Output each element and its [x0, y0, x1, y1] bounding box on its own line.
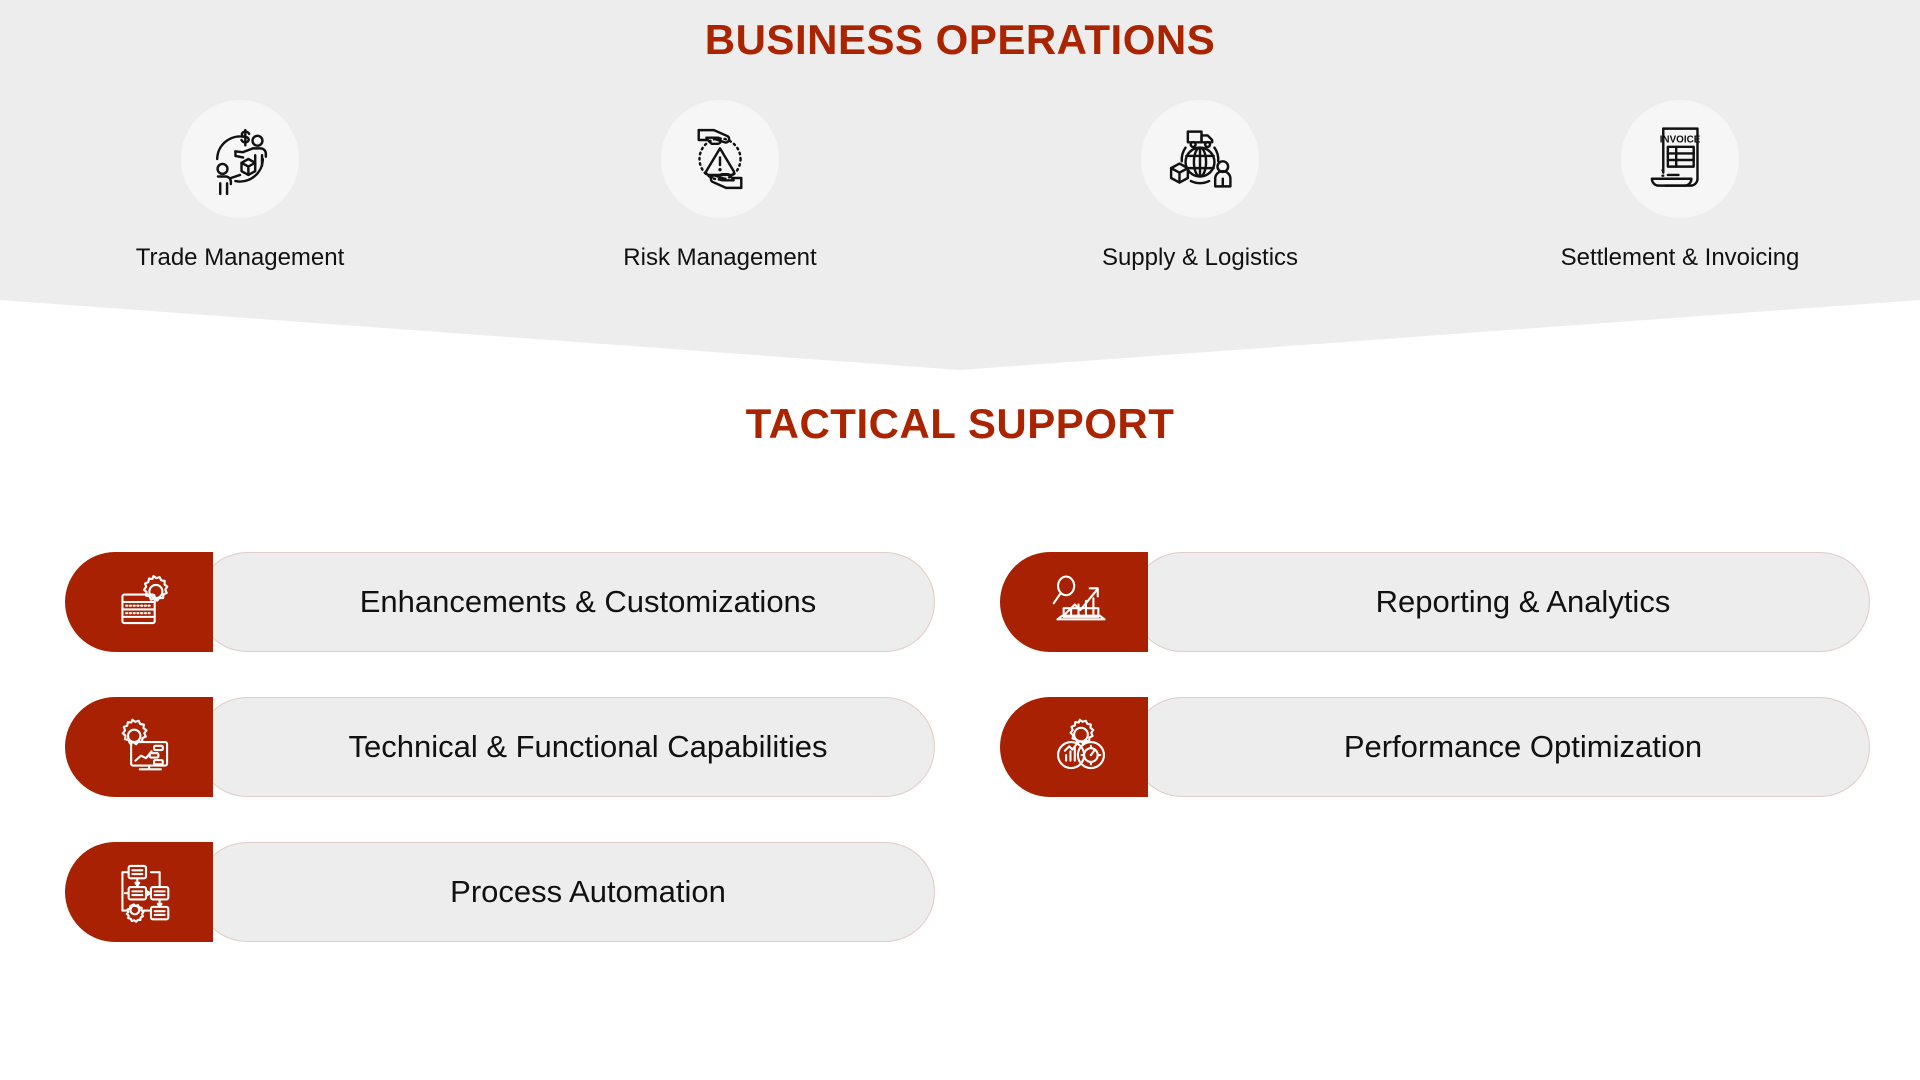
pill-body: Enhancements & Customizations — [197, 552, 935, 652]
business-operations-banner: BUSINESS OPERATIONS — [0, 0, 1920, 372]
pill-label: Enhancements & Customizations — [316, 584, 817, 620]
pill-technical-functional-capabilities[interactable]: Technical & Functional Capabilities — [65, 697, 945, 797]
pill-label: Performance Optimization — [1300, 729, 1702, 765]
pill-process-automation[interactable]: Process Automation — [65, 842, 945, 942]
magnifier-chart-laptop-icon — [1000, 552, 1148, 652]
ops-item-risk-management[interactable]: Risk Management — [480, 100, 960, 272]
ops-item-label: Trade Management — [136, 244, 345, 272]
monitor-gear-icon — [65, 697, 213, 797]
ops-item-label: Settlement & Invoicing — [1561, 244, 1800, 272]
ops-item-settlement-invoicing[interactable]: INVOICE Settlement & Invoicing — [1440, 100, 1920, 272]
globe-truck-box-person-icon — [1141, 100, 1259, 218]
pill-reporting-analytics[interactable]: Reporting & Analytics — [1000, 552, 1880, 652]
pill-body: Technical & Functional Capabilities — [197, 697, 935, 797]
tactical-right-column: Reporting & Analytics Per — [1000, 552, 1880, 842]
pill-enhancements-customizations[interactable]: Enhancements & Customizations — [65, 552, 945, 652]
trade-exchange-icon — [181, 100, 299, 218]
hands-warning-triangle-icon — [661, 100, 779, 218]
tactical-left-column: Enhancements & Customizations Technical … — [65, 552, 945, 987]
gear-gauge-chart-icon — [1000, 697, 1148, 797]
ops-item-trade-management[interactable]: Trade Management — [0, 100, 480, 272]
tactical-support-title: TACTICAL SUPPORT — [0, 400, 1920, 448]
business-operations-title: BUSINESS OPERATIONS — [0, 16, 1920, 64]
invoice-document-icon: INVOICE — [1621, 100, 1739, 218]
pill-body: Reporting & Analytics — [1132, 552, 1870, 652]
pill-body: Performance Optimization — [1132, 697, 1870, 797]
ops-item-label: Supply & Logistics — [1102, 244, 1298, 272]
workflow-gear-icon — [65, 842, 213, 942]
pill-performance-optimization[interactable]: Performance Optimization — [1000, 697, 1880, 797]
pill-label: Technical & Functional Capabilities — [304, 729, 827, 765]
business-operations-item-list: Trade Management Risk Man — [0, 100, 1920, 272]
pill-label: Process Automation — [406, 874, 726, 910]
pill-body: Process Automation — [197, 842, 935, 942]
ops-item-supply-logistics[interactable]: Supply & Logistics — [960, 100, 1440, 272]
ops-item-label: Risk Management — [623, 244, 816, 272]
pill-label: Reporting & Analytics — [1332, 584, 1671, 620]
svg-text:INVOICE: INVOICE — [1660, 134, 1701, 145]
gear-code-stack-icon — [65, 552, 213, 652]
